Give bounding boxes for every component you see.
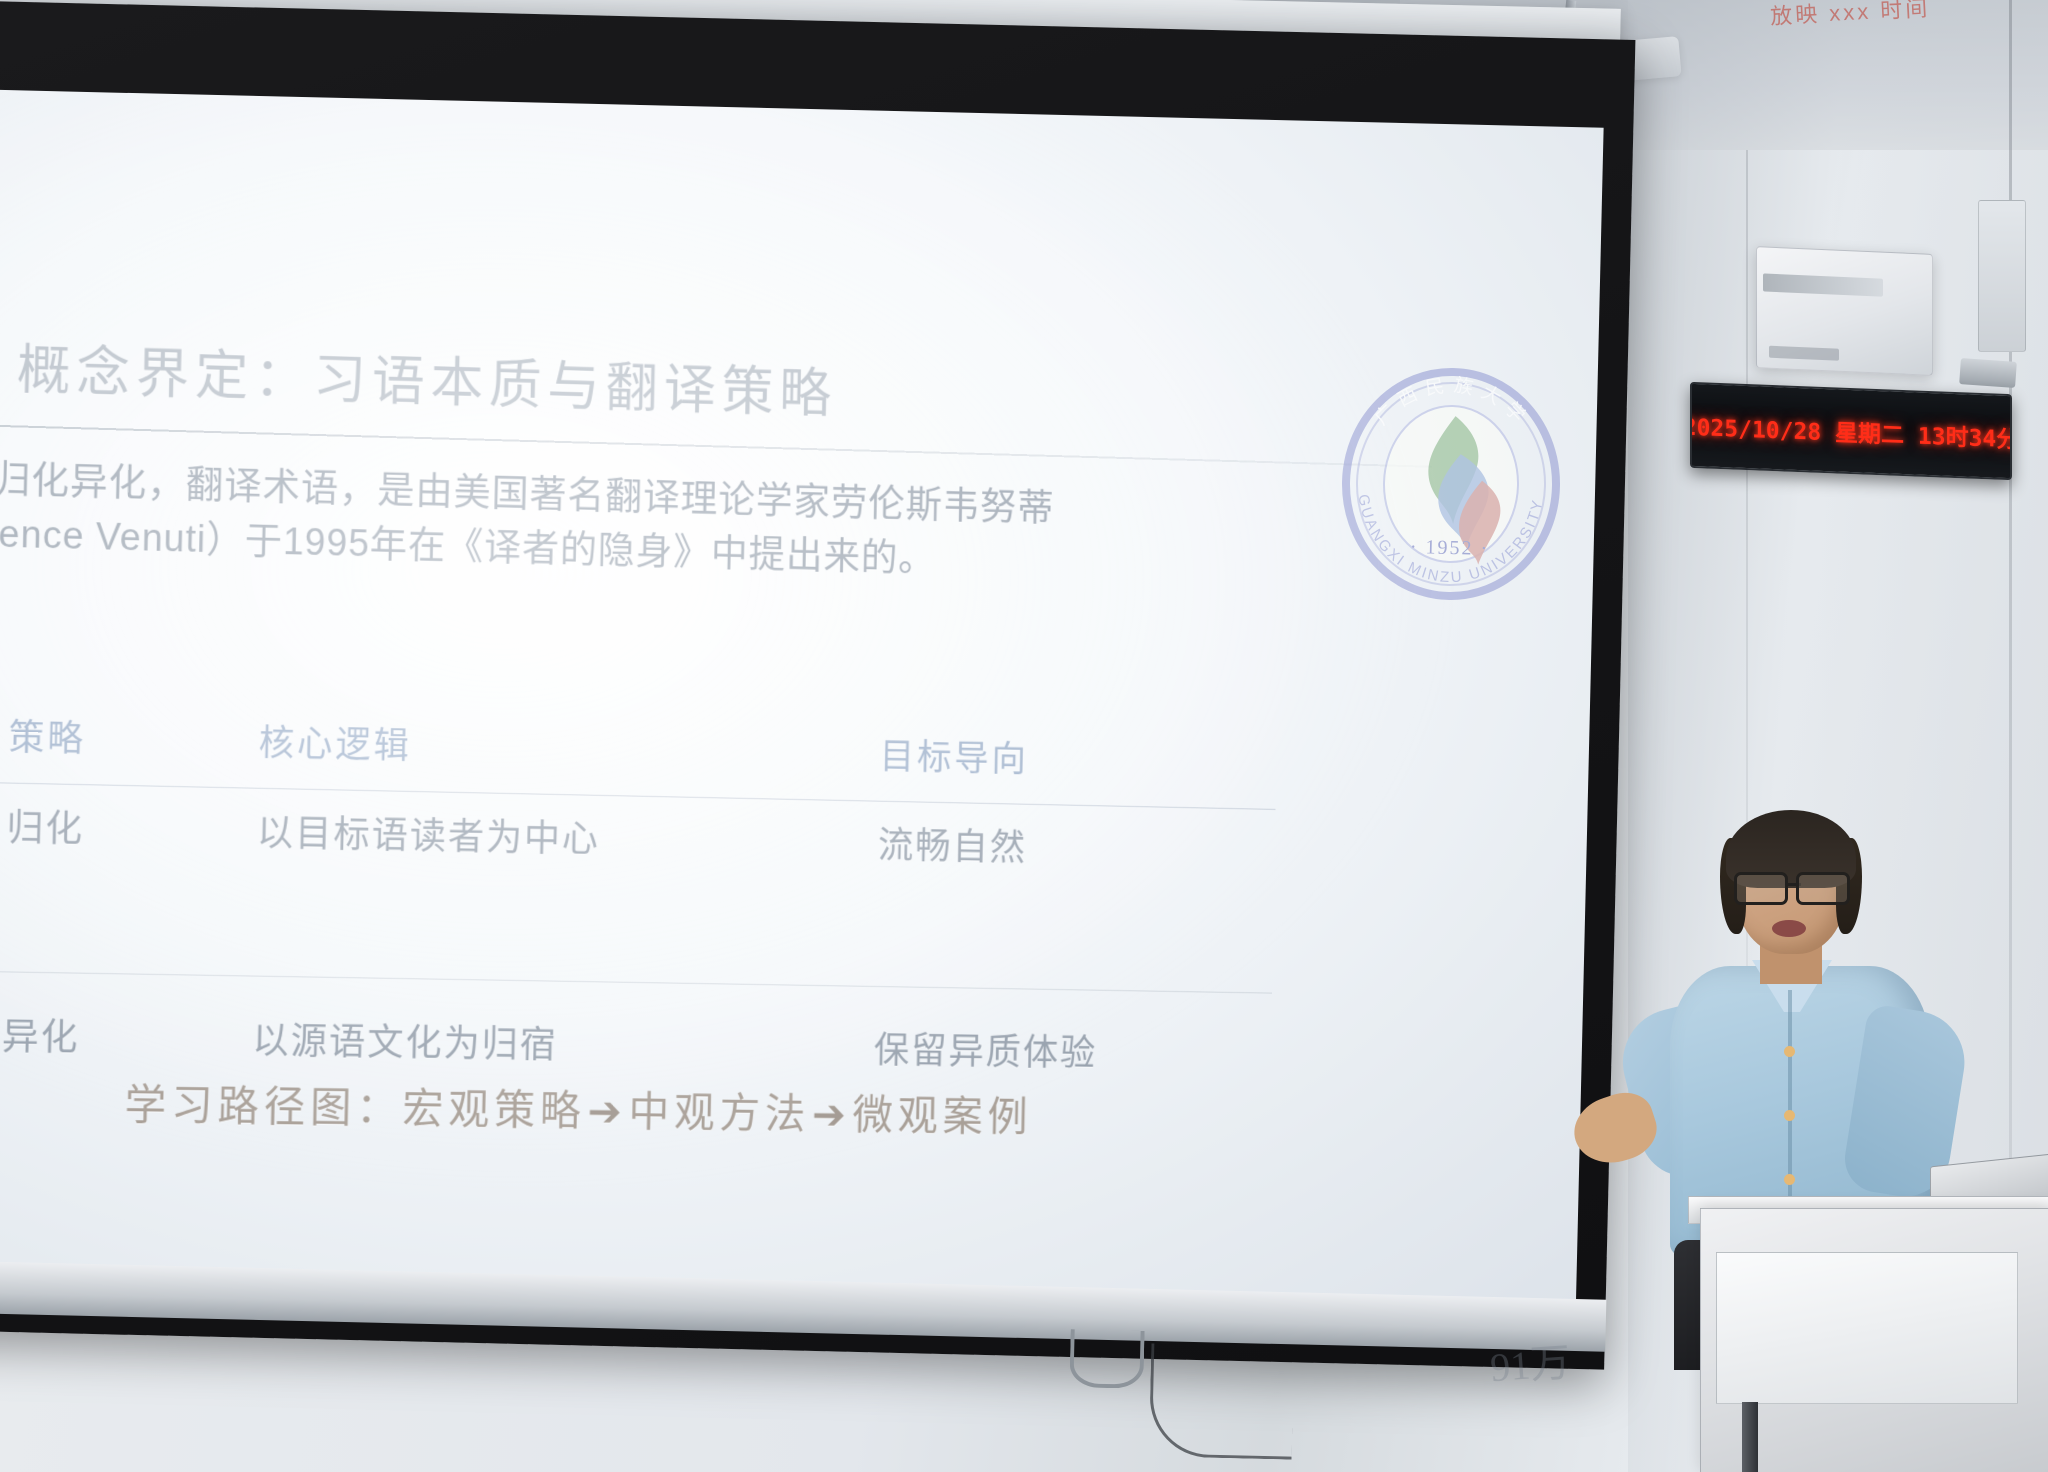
learning-path-line: 学习路径图：宏观策略➔中观方法➔微观案例	[124, 1071, 1033, 1144]
strategy-table: 策略 核心逻辑 目标导向 归化 以目标语读者为中心 流畅自然 异化 以源语文化为…	[0, 694, 1277, 1100]
presenter-mouth	[1772, 920, 1806, 937]
cell-strategy-foreignization: 异化	[0, 972, 224, 1086]
screen-pull-handle[interactable]	[1069, 1329, 1144, 1389]
glasses-lens-right	[1796, 872, 1850, 905]
led-clock-mount	[1959, 358, 2017, 388]
svg-text:· 1952 ·: · 1952 ·	[1410, 536, 1490, 560]
glasses-lens-left	[1734, 872, 1788, 905]
wall-mounted-device	[1756, 246, 1933, 376]
screen-pull-cord[interactable]	[1149, 1343, 1295, 1459]
classroom-photo: 放映 xxx 时间 2025/10/28 星期二 13时34分 二、概念界定：习…	[0, 0, 2048, 1472]
table-row: 归化 以目标语读者为中心 流畅自然	[0, 783, 1276, 993]
cell-logic-domestication: 以目标语读者为中心	[224, 788, 840, 986]
learning-path-step-1: 宏观策略	[402, 1087, 586, 1135]
slide-title: 二、概念界定：习语本质与翻译策略	[0, 322, 838, 428]
arrow-right-icon-1: ➔	[585, 1090, 629, 1136]
led-clock-display: 2025/10/28 星期二 13时34分	[1690, 382, 2012, 480]
presenter-button	[1784, 1110, 1795, 1121]
table-header-core-logic: 核心逻辑	[228, 700, 842, 801]
learning-path-label: 学习路径图：	[124, 1083, 403, 1133]
projected-slide: 二、概念界定：习语本质与翻译策略 归化异化，翻译术语，是由美国著名翻译理论学家劳…	[0, 93, 1603, 1301]
table-header-strategy: 策略	[0, 694, 230, 787]
device-band	[1763, 273, 1883, 296]
presenter-button	[1784, 1174, 1795, 1185]
device-logo	[1769, 346, 1839, 361]
learning-path-step-3: 微观案例	[852, 1094, 1033, 1142]
learning-path-step-2: 中观方法	[628, 1090, 810, 1138]
arrow-right-icon-2: ➔	[810, 1093, 853, 1139]
slide-paragraph: 归化异化，翻译术语，是由美国著名翻译理论学家劳伦斯韦努蒂（Lawrence Ve…	[0, 449, 1235, 594]
table-header-goal: 目标导向	[840, 714, 1277, 810]
podium-leg	[1742, 1402, 1758, 1472]
whiteboard-marking: 91万	[1488, 1325, 1642, 1395]
cell-goal-domestication: 流畅自然	[837, 800, 1276, 993]
wall-conduit	[1978, 200, 2026, 352]
presenter-button	[1784, 1046, 1795, 1057]
glasses-icon	[1732, 872, 1852, 900]
university-logo: · 1952 · 广西民族大学 GUANGXI MINZU UNIVERSITY	[1333, 365, 1568, 602]
podium-front-panel	[1716, 1252, 2018, 1404]
cell-strategy-domestication: 归化	[0, 783, 228, 976]
led-clock-text: 2025/10/28 星期二 13时34分	[1690, 408, 2012, 455]
